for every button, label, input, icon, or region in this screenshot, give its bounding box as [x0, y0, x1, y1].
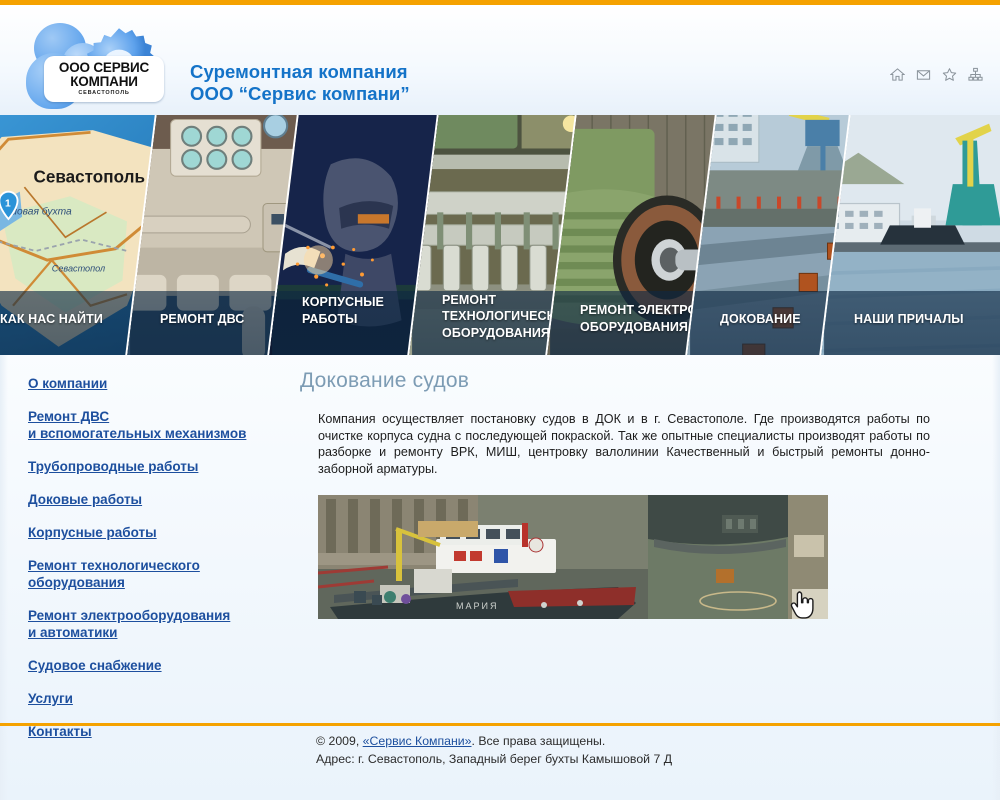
footer-copyright-prefix: © 2009,	[316, 734, 363, 748]
svg-text:1: 1	[5, 198, 11, 209]
header-icon-bar	[890, 67, 983, 82]
page-title: Докование судов	[300, 369, 970, 393]
article-paragraph: Компания осуществляет постановку судов в…	[318, 411, 930, 477]
ship-in-dry-dock-illustration: МАРИЯ	[318, 495, 828, 619]
sidebar-item-ship-supply[interactable]: Судовое снабжение	[28, 657, 290, 674]
category-nav-strip: Севастополь шовая бухта Севастопол 1 КАК…	[0, 115, 1000, 355]
sidebar-item-electrical-automation[interactable]: Ремонт электрооборудования и автоматики	[28, 607, 290, 641]
site-title: Суремонтная компания ООО “Сервис компани…	[190, 61, 410, 105]
sidebar-item-pipeline-works[interactable]: Трубопроводные работы	[28, 458, 290, 475]
content-area: О компании Ремонт ДВС и вспомогательных …	[0, 355, 1000, 723]
sidebar-menu: О компании Ремонт ДВС и вспомогательных …	[28, 375, 290, 740]
footer-copyright-suffix: . Все права защищены.	[472, 734, 606, 748]
footer-divider	[0, 723, 1000, 726]
logo-plate-line2: КОМПАНИ	[70, 75, 138, 89]
footer-company-link[interactable]: «Сервис Компани»	[363, 734, 472, 748]
sidebar-item-services[interactable]: Услуги	[28, 690, 290, 707]
site-logo[interactable]: ООО СЕРВИС КОМПАНИ СЕВАСТОПОЛЬ	[22, 19, 172, 109]
footer-address-line: Адрес: г. Севастополь, Западный берег бу…	[316, 750, 1000, 768]
main-article: Докование судов Компания осуществляет по…	[300, 369, 970, 619]
logo-plate-line3: СЕВАСТОПОЛЬ	[78, 91, 129, 97]
mail-icon[interactable]	[916, 67, 931, 82]
article-photo[interactable]: МАРИЯ	[318, 495, 828, 619]
site-footer: © 2009, «Сервис Компани». Все права защи…	[0, 732, 1000, 768]
page-root: ООО СЕРВИС КОМПАНИ СЕВАСТОПОЛЬ Суремонтн…	[0, 0, 1000, 800]
logo-plate: ООО СЕРВИС КОМПАНИ СЕВАСТОПОЛЬ	[44, 56, 164, 102]
sitemap-icon[interactable]	[968, 67, 983, 82]
sidebar-item-process-equipment[interactable]: Ремонт технологического оборудования	[28, 557, 290, 591]
footer-copyright-line: © 2009, «Сервис Компани». Все права защи…	[316, 732, 1000, 750]
site-title-line1: Суремонтная компания	[190, 61, 410, 83]
logo-plate-line1: ООО СЕРВИС	[59, 61, 149, 75]
site-title-line2: ООО “Сервис компани”	[190, 83, 410, 105]
sidebar-item-about[interactable]: О компании	[28, 375, 290, 392]
favorite-star-icon[interactable]	[942, 67, 957, 82]
sidebar-item-engine-repair[interactable]: Ремонт ДВС и вспомогательных механизмов	[28, 408, 290, 442]
home-icon[interactable]	[890, 67, 905, 82]
svg-text:шовая бухта: шовая бухта	[8, 205, 72, 217]
site-header: ООО СЕРВИС КОМПАНИ СЕВАСТОПОЛЬ Суремонтн…	[0, 5, 1000, 115]
ship-name-text: МАРИЯ	[456, 601, 498, 611]
nav-item-our-berths[interactable]: НАШИ ПРИЧАЛЫ	[817, 115, 1000, 355]
sidebar-item-hull-works[interactable]: Корпусные работы	[28, 524, 290, 541]
svg-text:Севастополь: Севастополь	[34, 168, 145, 187]
svg-text:Севастопол: Севастопол	[52, 263, 105, 273]
sidebar-item-dock-works[interactable]: Доковые работы	[28, 491, 290, 508]
nav-image-harbour	[817, 115, 1000, 355]
